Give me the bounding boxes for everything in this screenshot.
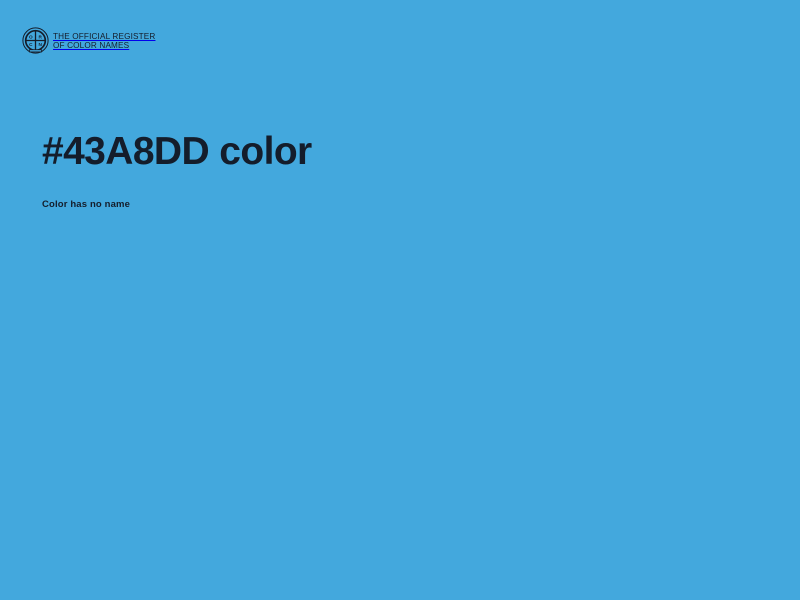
- svg-text:R: R: [39, 34, 43, 39]
- svg-text:C: C: [29, 42, 33, 47]
- brand-line-1: THE OFFICIAL REGISTER: [53, 32, 155, 42]
- page-title: #43A8DD color: [42, 130, 312, 174]
- brand-wordmark: THE OFFICIAL REGISTER OF COLOR NAMES: [53, 31, 155, 51]
- official-register-seal-icon: O R C N: [22, 27, 49, 54]
- official-register-seal-icon: O R C N: [22, 27, 49, 54]
- svg-text:O: O: [29, 34, 33, 39]
- brand-line-2: OF COLOR NAMES: [53, 41, 155, 51]
- color-page: O R C N THE OFFICIAL REGISTER OF COLOR N…: [0, 0, 800, 600]
- svg-text:N: N: [39, 42, 43, 47]
- color-name-status: Color has no name: [42, 199, 130, 210]
- brand-logo-link[interactable]: O R C N THE OFFICIAL REGISTER OF COLOR N…: [22, 27, 155, 54]
